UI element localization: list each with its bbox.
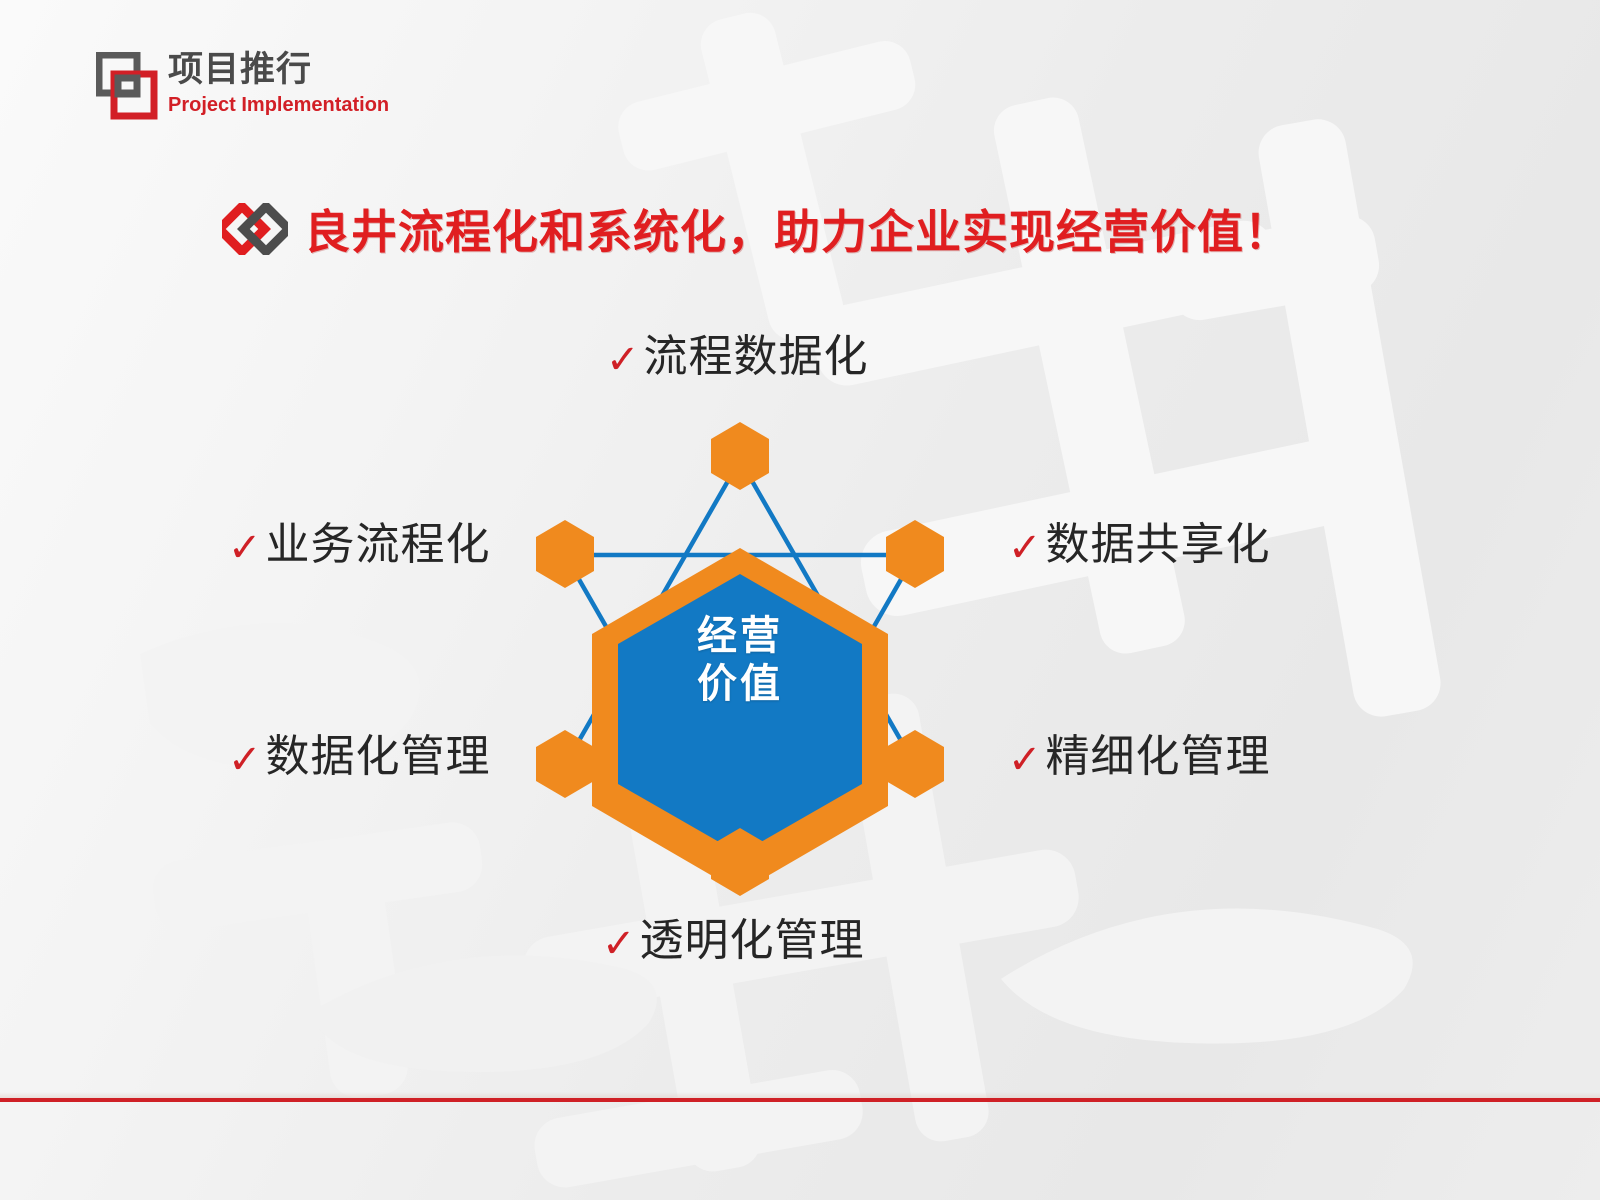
node-hexagon-upper-left [536,520,594,588]
label-bottom: ✓ 透明化管理 [602,916,865,967]
check-icon: ✓ [1008,528,1042,568]
node-hexagon-lower-right [886,730,944,798]
slide-root: 项目推行 Project Implementation 良井流程化和系统化，助力… [0,0,1600,1200]
label-upper-left: ✓ 业务流程化 [228,520,491,571]
check-icon: ✓ [228,528,262,568]
node-hexagon-top [711,422,769,490]
star-hexagon-diagram: 经营 价值 [430,400,1050,920]
slide-title-row: 良井流程化和系统化，助力企业实现经营价值！ [222,196,1291,262]
check-icon: ✓ [228,740,262,780]
label-lower-right: ✓ 精细化管理 [1008,732,1271,783]
logo-english-name: Project Implementation [168,92,389,118]
page-title: 良井流程化和系统化，助力企业实现经营价值！ [304,196,1291,262]
logo-text-block: 项目推行 Project Implementation [168,50,389,118]
label-bottom-text: 透明化管理 [640,916,865,967]
label-lower-right-text: 精细化管理 [1046,732,1271,783]
check-icon: ✓ [1008,740,1042,780]
logo-chinese-name: 项目推行 [168,50,389,90]
check-icon: ✓ [602,924,636,964]
label-upper-right: ✓ 数据共享化 [1008,520,1271,571]
overlapping-squares-logo-icon [96,52,158,120]
label-upper-left-text: 业务流程化 [266,520,491,571]
label-lower-left: ✓ 数据化管理 [228,732,491,783]
label-top-text: 流程数据化 [644,332,869,383]
brand-logo: 项目推行 Project Implementation [96,50,396,128]
label-upper-right-text: 数据共享化 [1046,520,1271,571]
footer-rule [0,1098,1600,1102]
label-top: ✓ 流程数据化 [606,332,869,383]
node-hexagon-upper-right [886,520,944,588]
check-icon: ✓ [606,340,640,380]
label-lower-left-text: 数据化管理 [266,732,491,783]
node-hexagon-lower-left [536,730,594,798]
double-diamond-icon [222,203,288,255]
